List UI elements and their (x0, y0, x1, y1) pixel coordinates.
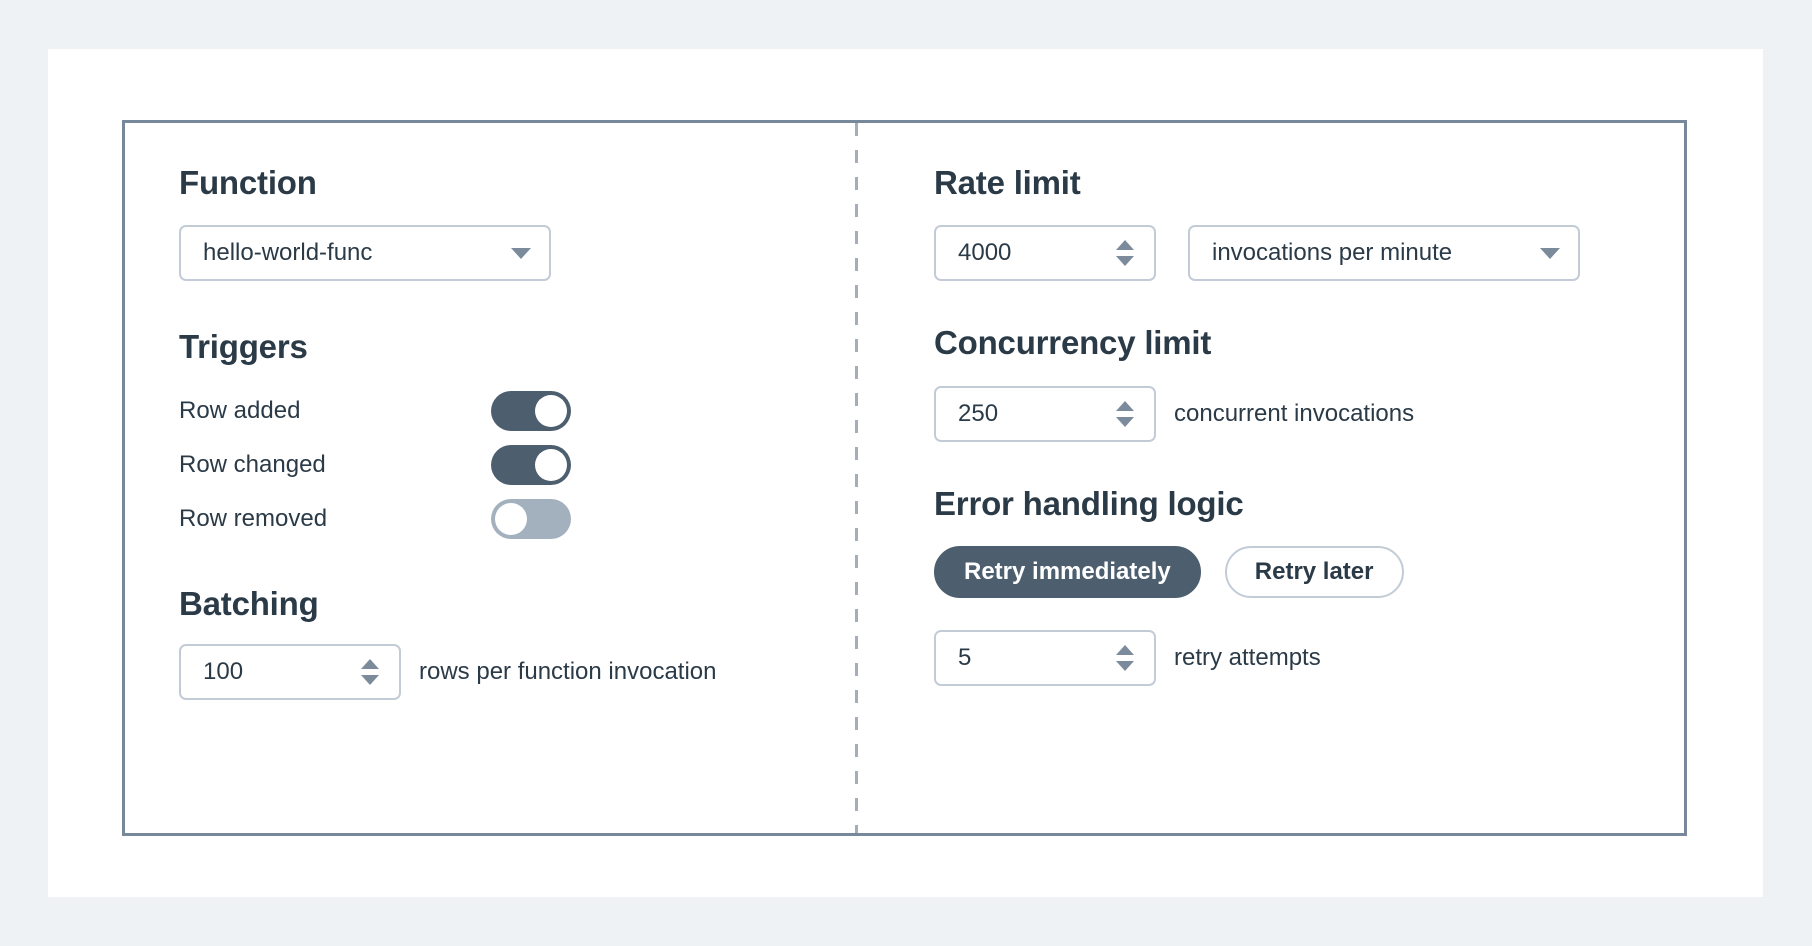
batching-size-input[interactable]: 100 (179, 644, 401, 700)
triggers-list: Row added Row changed Row removed (179, 384, 858, 546)
stepper-arrows-icon[interactable] (361, 659, 379, 685)
trigger-row-row-changed: Row changed (179, 438, 858, 492)
toggle-row-removed[interactable] (491, 499, 571, 539)
error-handling-options: Retry immediately Retry later (934, 546, 1684, 598)
concurrency-limit-unit-label: concurrent invocations (1174, 400, 1414, 428)
stepper-arrows-icon[interactable] (1116, 401, 1134, 427)
retry-attempts-value: 5 (958, 644, 971, 672)
rate-limit-period-value: invocations per minute (1212, 239, 1452, 267)
toggle-row-changed[interactable] (491, 445, 571, 485)
stepper-up-icon[interactable] (1116, 401, 1134, 411)
rate-limit-section-title: Rate limit (934, 165, 1684, 201)
toggle-row-added[interactable] (491, 391, 571, 431)
stepper-down-icon[interactable] (1116, 661, 1134, 671)
retry-attempts-input[interactable]: 5 (934, 630, 1156, 686)
stepper-down-icon[interactable] (361, 675, 379, 685)
settings-card: Function hello-world-func Triggers Row a… (48, 49, 1763, 897)
rate-limit-period-select[interactable]: invocations per minute (1188, 225, 1580, 281)
toggle-knob (535, 449, 567, 481)
retry-immediately-button[interactable]: Retry immediately (934, 546, 1201, 598)
trigger-label-row-changed: Row changed (179, 451, 491, 479)
trigger-row-row-added: Row added (179, 384, 858, 438)
triggers-section-title: Triggers (179, 329, 858, 365)
stepper-arrows-icon[interactable] (1116, 240, 1134, 266)
trigger-row-row-removed: Row removed (179, 492, 858, 546)
trigger-label-row-removed: Row removed (179, 505, 491, 533)
rate-limit-value: 4000 (958, 239, 1011, 267)
trigger-label-row-added: Row added (179, 397, 491, 425)
concurrency-limit-section-title: Concurrency limit (934, 325, 1684, 361)
stepper-down-icon[interactable] (1116, 256, 1134, 266)
chevron-down-icon (511, 248, 531, 259)
batching-row: 100 rows per function invocation (179, 644, 858, 700)
stepper-down-icon[interactable] (1116, 417, 1134, 427)
error-handling-section-title: Error handling logic (934, 486, 1684, 522)
rate-limit-row: 4000 invocations per minute (934, 225, 1684, 281)
retry-attempts-unit-label: retry attempts (1174, 644, 1321, 672)
retry-attempts-row: 5 retry attempts (934, 630, 1684, 686)
function-select[interactable]: hello-world-func (179, 225, 551, 281)
concurrency-limit-row: 250 concurrent invocations (934, 386, 1684, 442)
batching-section-title: Batching (179, 586, 858, 622)
stepper-up-icon[interactable] (1116, 240, 1134, 250)
rate-limit-value-input[interactable]: 4000 (934, 225, 1156, 281)
left-column: Function hello-world-func Triggers Row a… (125, 123, 858, 833)
toggle-knob (535, 395, 567, 427)
function-section-title: Function (179, 165, 858, 201)
function-select-value: hello-world-func (203, 239, 372, 267)
stepper-arrows-icon[interactable] (1116, 645, 1134, 671)
stepper-up-icon[interactable] (361, 659, 379, 669)
stepper-up-icon[interactable] (1116, 645, 1134, 655)
right-column: Rate limit 4000 invocations per minute (858, 123, 1684, 833)
batching-size-value: 100 (203, 658, 243, 686)
batching-unit-label: rows per function invocation (419, 658, 717, 686)
settings-panel: Function hello-world-func Triggers Row a… (122, 120, 1687, 836)
chevron-down-icon (1540, 248, 1560, 259)
toggle-knob (495, 503, 527, 535)
concurrency-limit-input[interactable]: 250 (934, 386, 1156, 442)
retry-later-button[interactable]: Retry later (1225, 546, 1404, 598)
concurrency-limit-value: 250 (958, 400, 998, 428)
